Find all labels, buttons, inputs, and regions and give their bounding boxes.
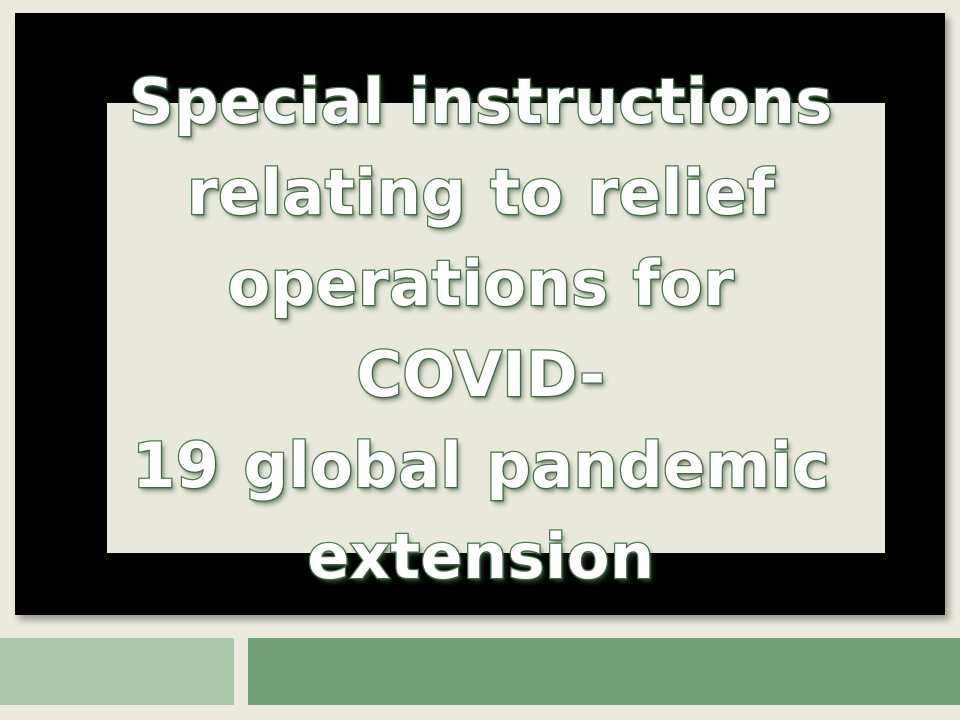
accent-bar-light [0, 638, 234, 705]
accent-bar-dark [248, 638, 960, 705]
slide-canvas: Special instructions relating to relief … [0, 0, 960, 720]
slide-frame [15, 13, 945, 615]
slide-content-panel [107, 103, 885, 553]
